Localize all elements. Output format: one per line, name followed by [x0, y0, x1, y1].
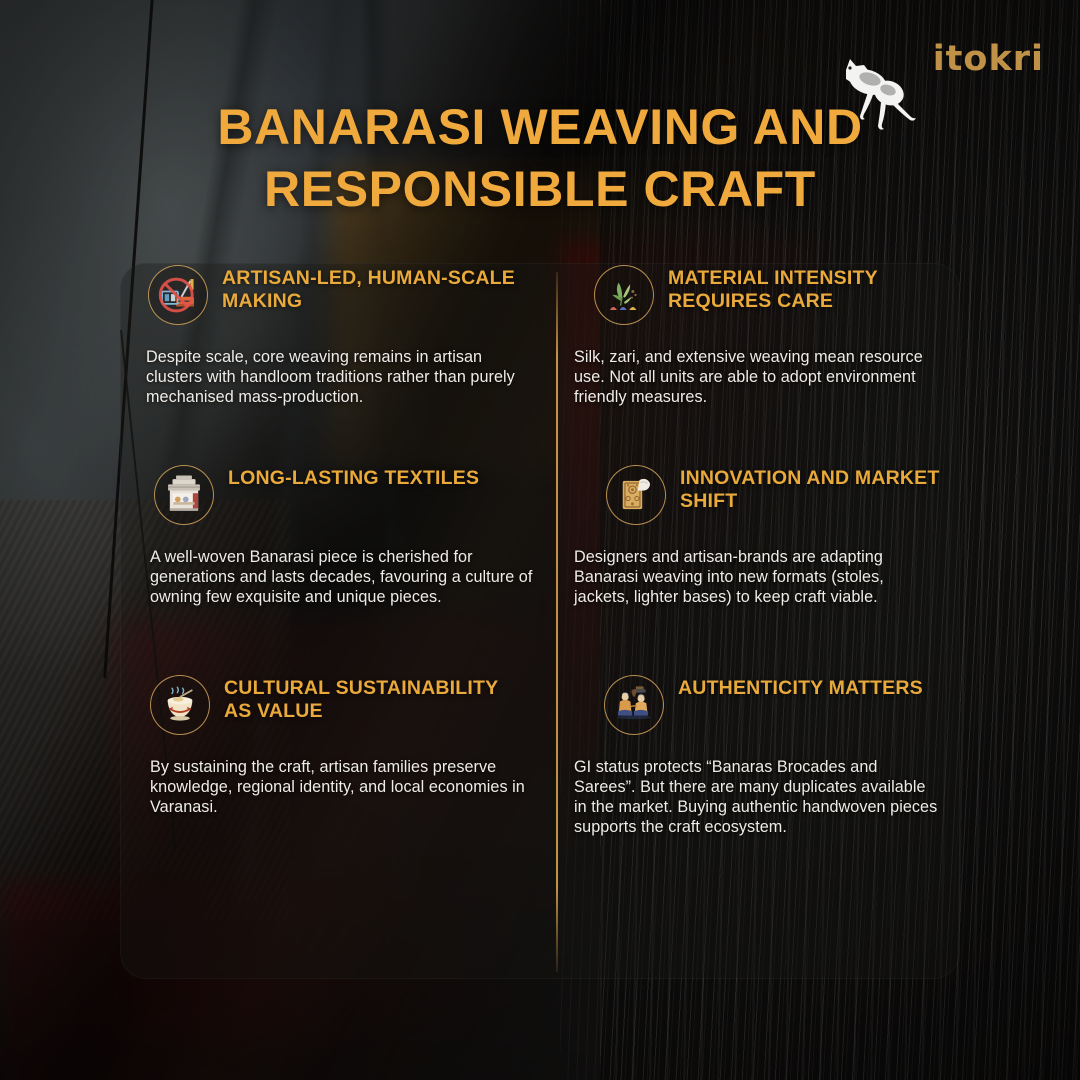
card-title: LONG-LASTING TEXTILES: [228, 463, 479, 490]
brand-logo-text: itokri: [933, 42, 1044, 77]
card-title: CULTURAL SUSTAINABILITY AS VALUE: [224, 673, 524, 723]
feature-grid: ARTISAN-LED, HUMAN-SCALE MAKING Despite …: [120, 263, 960, 979]
infographic-poster: itokri BANARASI WEAVING AND RESPONSIBLE …: [0, 0, 1080, 1080]
card-header: INNOVATION AND MARKET SHIFT: [566, 463, 942, 525]
steaming-dye-pot-icon: [150, 675, 210, 735]
hand-holding-brocade-swatch-icon: [606, 465, 666, 525]
feature-card-innovation-market-shift: INNOVATION AND MARKET SHIFT Designers an…: [556, 463, 960, 673]
card-body: Silk, zari, and extensive weaving mean r…: [566, 347, 942, 407]
page-title-line-2: RESPONSIBLE CRAFT: [0, 158, 1080, 220]
feature-card-authenticity-matters: AUTHENTICITY MATTERS GI status protects …: [556, 673, 960, 903]
card-body: A well-woven Banarasi piece is cherished…: [120, 547, 538, 607]
card-header: ARTISAN-LED, HUMAN-SCALE MAKING: [120, 263, 538, 325]
card-header: LONG-LASTING TEXTILES: [120, 463, 538, 525]
two-seated-artisans-icon: [604, 675, 664, 735]
page-title-line-1: BANARASI WEAVING AND: [217, 99, 862, 155]
card-title: AUTHENTICITY MATTERS: [678, 673, 923, 700]
card-body: By sustaining the craft, artisan familie…: [120, 757, 538, 817]
card-title: MATERIAL INTENSITY REQUIRES CARE: [668, 263, 942, 313]
card-body: Despite scale, core weaving remains in a…: [120, 347, 538, 407]
card-header: MATERIAL INTENSITY REQUIRES CARE: [566, 263, 942, 325]
card-header: CULTURAL SUSTAINABILITY AS VALUE: [120, 673, 538, 735]
no-power-loom-icon: [148, 265, 208, 325]
card-header: AUTHENTICITY MATTERS: [566, 673, 942, 735]
feature-card-long-lasting-textiles: LONG-LASTING TEXTILES A well-woven Banar…: [120, 463, 556, 673]
craft-shopfront-icon: [154, 465, 214, 525]
leaves-and-dye-powders-icon: [594, 265, 654, 325]
card-body: Designers and artisan-brands are adaptin…: [566, 547, 942, 607]
card-body: GI status protects “Banaras Brocades and…: [566, 757, 942, 837]
feature-card-cultural-sustainability: CULTURAL SUSTAINABILITY AS VALUE By sust…: [120, 673, 556, 903]
feature-card-material-intensity: MATERIAL INTENSITY REQUIRES CARE Silk, z…: [556, 263, 960, 463]
feature-card-artisan-led: ARTISAN-LED, HUMAN-SCALE MAKING Despite …: [120, 263, 556, 463]
card-title: INNOVATION AND MARKET SHIFT: [680, 463, 942, 513]
brand-logo: itokri: [933, 42, 1044, 77]
cat-illustration-icon: [828, 48, 928, 136]
card-title: ARTISAN-LED, HUMAN-SCALE MAKING: [222, 263, 522, 313]
